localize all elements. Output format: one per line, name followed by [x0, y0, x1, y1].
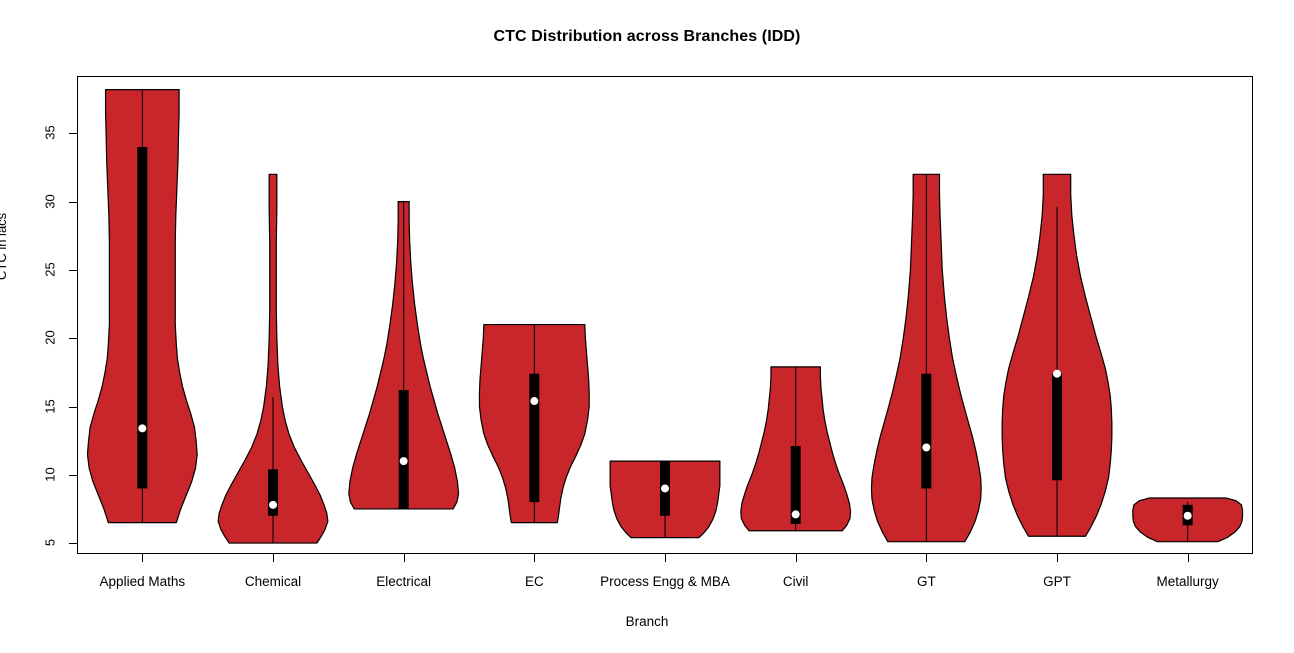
x-tick-label-metallurgy: Metallurgy	[1157, 574, 1219, 589]
chart-title: CTC Distribution across Branches (IDD)	[0, 28, 1294, 46]
x-tick-label-gt: GT	[917, 574, 936, 589]
y-tick-label: 10	[43, 463, 58, 485]
iqr-box	[921, 374, 931, 489]
y-tick-mark	[69, 133, 77, 134]
x-tick-mark	[1188, 554, 1189, 562]
violin-series-group	[77, 76, 1253, 554]
y-tick-label: 5	[43, 532, 58, 554]
violin-process-engg-mba	[610, 461, 720, 537]
iqr-box	[1052, 374, 1062, 481]
x-tick-label-electrical: Electrical	[376, 574, 431, 589]
y-tick-label: 20	[43, 327, 58, 349]
violin-civil	[741, 367, 851, 531]
y-tick-label: 30	[43, 190, 58, 212]
median-marker	[1184, 512, 1192, 520]
violin-electrical	[349, 202, 459, 509]
violin-gpt	[1002, 174, 1112, 536]
x-tick-mark	[665, 554, 666, 562]
x-tick-mark	[1057, 554, 1058, 562]
x-axis-title: Branch	[0, 614, 1294, 629]
x-tick-label-gpt: GPT	[1043, 574, 1071, 589]
plot-area	[77, 76, 1253, 554]
median-marker	[530, 397, 538, 405]
x-tick-label-applied-maths: Applied Maths	[100, 574, 186, 589]
x-tick-mark	[142, 554, 143, 562]
y-tick-mark	[69, 543, 77, 544]
median-marker	[269, 501, 277, 509]
y-tick-mark	[69, 475, 77, 476]
y-tick-mark	[69, 270, 77, 271]
violin-applied-maths	[87, 90, 197, 523]
x-tick-label-ec: EC	[525, 574, 544, 589]
x-tick-label-civil: Civil	[783, 574, 809, 589]
x-tick-label-chemical: Chemical	[245, 574, 301, 589]
violin-chemical	[218, 174, 328, 543]
iqr-box	[137, 147, 147, 488]
x-tick-mark	[926, 554, 927, 562]
iqr-box	[399, 390, 409, 509]
y-tick-label: 15	[43, 395, 58, 417]
x-tick-mark	[273, 554, 274, 562]
y-tick-label: 35	[43, 122, 58, 144]
median-marker	[792, 510, 800, 518]
violin-metallurgy	[1133, 498, 1243, 542]
violin-chart: CTC Distribution across Branches (IDD) C…	[0, 0, 1294, 653]
y-tick-mark	[69, 407, 77, 408]
x-tick-mark	[796, 554, 797, 562]
median-marker	[400, 457, 408, 465]
iqr-box	[529, 374, 539, 502]
violin-ec	[479, 325, 589, 523]
violin-gt	[871, 174, 981, 541]
median-marker	[922, 443, 930, 451]
x-tick-mark	[534, 554, 535, 562]
x-tick-label-process-engg-mba: Process Engg & MBA	[600, 574, 730, 589]
y-tick-label: 25	[43, 258, 58, 280]
y-axis-title: CTC in lacs	[0, 213, 9, 280]
y-tick-mark	[69, 202, 77, 203]
median-marker	[138, 424, 146, 432]
median-marker	[661, 484, 669, 492]
median-marker	[1053, 370, 1061, 378]
y-tick-mark	[69, 338, 77, 339]
x-tick-mark	[404, 554, 405, 562]
